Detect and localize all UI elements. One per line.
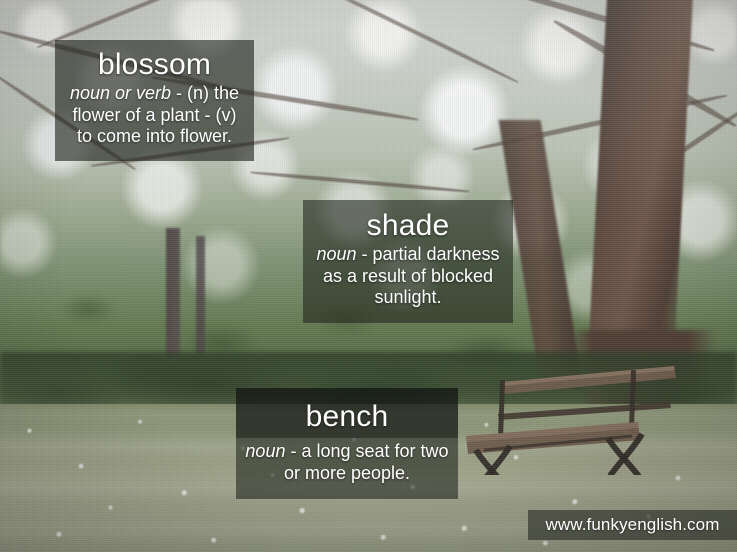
definition-panel: blossom noun or verb - (n) the flower of… xyxy=(55,40,254,161)
watermark-text: www.funkyenglish.com xyxy=(546,515,720,535)
definition-panel: shade noun - partial darkness as a resul… xyxy=(303,200,513,323)
part-of-speech: noun xyxy=(245,441,285,461)
definition-card-blossom: blossom noun or verb - (n) the flower of… xyxy=(55,40,254,161)
vocabulary-image: blossom noun or verb - (n) the flower of… xyxy=(0,0,737,552)
part-of-speech: noun or verb xyxy=(70,83,171,103)
definition-text: - a long seat for two or more people. xyxy=(284,441,449,483)
definition-title-band: bench xyxy=(236,388,458,438)
watermark: www.funkyenglish.com xyxy=(528,510,737,540)
word-definition: noun or verb - (n) the flower of a plant… xyxy=(63,82,246,155)
background-tree-trunk xyxy=(166,228,180,358)
part-of-speech: noun xyxy=(316,244,356,264)
word-title: bench xyxy=(242,394,452,434)
park-bench xyxy=(462,360,692,475)
definition-card-shade: shade noun - partial darkness as a resul… xyxy=(303,200,513,323)
word-definition: noun - partial darkness as a result of b… xyxy=(309,243,507,316)
definition-body-band: noun - a long seat for two or more peopl… xyxy=(236,438,458,499)
definition-card-bench: bench noun - a long seat for two or more… xyxy=(236,388,458,499)
background-tree-trunk xyxy=(196,236,205,354)
word-title: shade xyxy=(309,203,507,243)
word-definition: noun - a long seat for two or more peopl… xyxy=(242,440,452,491)
word-title: blossom xyxy=(63,42,246,82)
